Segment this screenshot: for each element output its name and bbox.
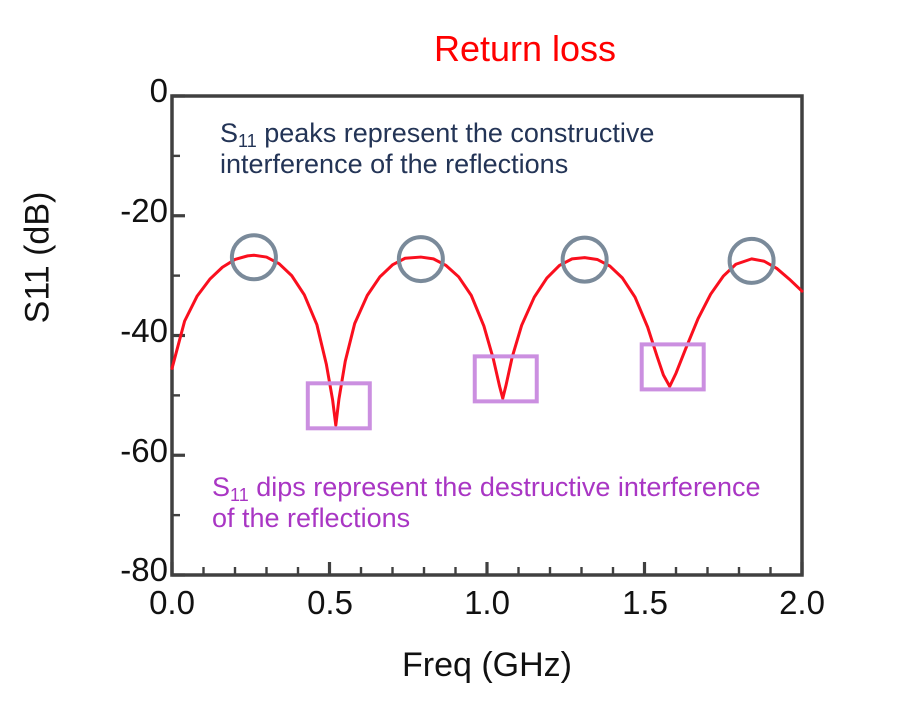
annotation-peaks-subscript: 11	[238, 131, 257, 151]
annotation-dips-subscript: 11	[230, 485, 249, 505]
annotation-peaks-text: peaks represent the constructive interfe…	[220, 118, 654, 179]
plot-canvas	[0, 0, 898, 720]
dip-box-2	[475, 356, 537, 401]
peak-circle-markers	[232, 235, 774, 283]
peak-circle-4	[730, 239, 774, 283]
annotation-peaks-prefix: S	[220, 118, 238, 148]
annotation-dips-text: dips represent the destructive interfere…	[212, 472, 760, 533]
annotation-dips: S11 dips represent the destructive inter…	[212, 472, 782, 535]
annotation-peaks: S11 peaks represent the constructive int…	[220, 118, 760, 181]
return-loss-figure: Return loss S11 (dB) Freq (GHz) 0 -20 -4…	[0, 0, 898, 720]
annotation-dips-prefix: S	[212, 472, 230, 502]
